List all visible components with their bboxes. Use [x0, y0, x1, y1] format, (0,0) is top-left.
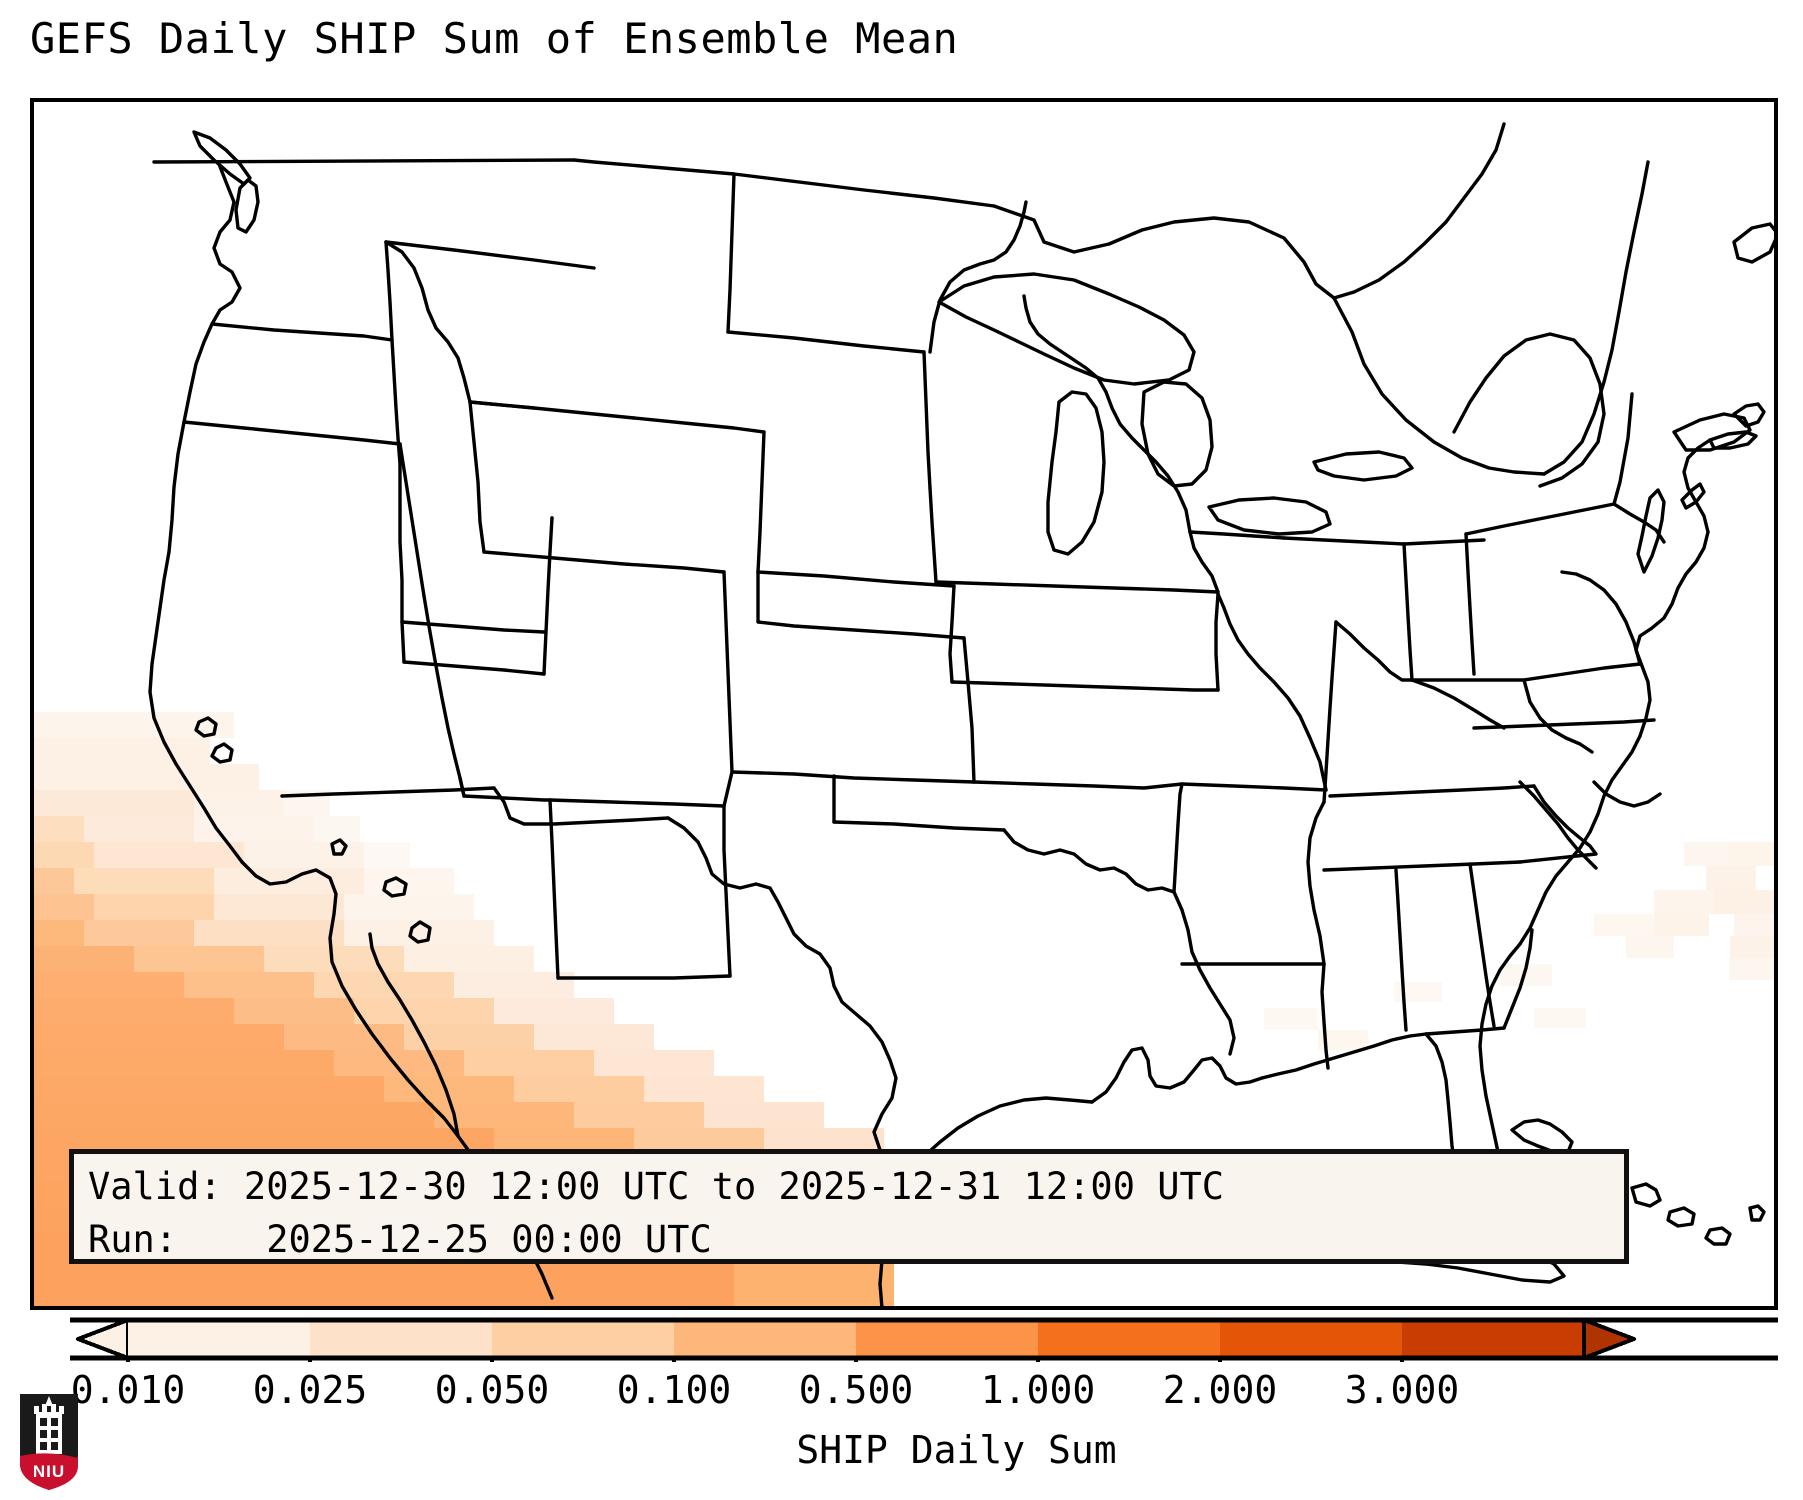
state-ok-ar — [1174, 784, 1182, 892]
baja-islands-2 — [384, 878, 406, 896]
colorbar-title-wrap: SHIP Daily Sum — [0, 1428, 1803, 1472]
puget-sound — [236, 180, 258, 232]
state-mt-wy-east — [634, 418, 764, 432]
state-la-ms — [1322, 964, 1328, 1068]
colorbar-band-2 — [492, 1320, 674, 1358]
border-usmex-nm — [494, 788, 668, 824]
state-ut-az — [464, 796, 550, 800]
state-ks-mo — [964, 638, 974, 782]
coast-gulf-louisiana — [1092, 1048, 1262, 1102]
state-az-nm — [550, 800, 558, 978]
state-ky-va-tn — [1412, 680, 1504, 728]
state-al-ga — [1470, 864, 1494, 1026]
state-nc-sc — [1594, 782, 1660, 806]
run-line: Run: 2025-12-25 00:00 UTC — [88, 1213, 1610, 1266]
niu-logo-svg: NIU — [18, 1392, 80, 1492]
state-wa-or — [212, 324, 392, 340]
state-ar-ms-tn — [1308, 802, 1324, 964]
long-island — [1710, 432, 1756, 448]
lake-huron — [1142, 382, 1212, 486]
bahamas-5 — [1706, 1228, 1730, 1244]
state-ne-ia-mo — [950, 586, 954, 682]
baja-islands-1 — [332, 840, 346, 854]
state-co-nm — [550, 800, 724, 806]
lake-erie — [1209, 498, 1330, 534]
lake-superior — [939, 274, 1194, 384]
state-sd-mn-ia — [930, 488, 936, 582]
state-in-ky — [1336, 622, 1412, 680]
colorbar-title: SHIP Daily Sum — [686, 1428, 1116, 1472]
state-ne-ks — [758, 572, 964, 638]
state-il-in — [1324, 622, 1336, 802]
colorbar-band-7 — [1402, 1320, 1584, 1358]
state-sd-ne — [758, 572, 954, 586]
island-dot-pacific-2 — [212, 744, 232, 762]
state-ok-tx-panhandle — [834, 822, 1004, 830]
state-mo-il — [1218, 594, 1326, 790]
state-ky-tn — [1330, 786, 1534, 796]
lake-superior-north — [994, 124, 1504, 298]
state-wy-south — [484, 552, 724, 572]
state-ny-vt-ma — [1614, 394, 1632, 504]
geography-layer — [34, 102, 1774, 1306]
st-lawrence-coast — [1544, 162, 1648, 474]
state-id-mt-w — [386, 242, 470, 402]
valid-run-info-box: Valid: 2025-12-30 12:00 UTC to 2025-12-3… — [69, 1149, 1629, 1264]
colorbar-svg[interactable] — [30, 1316, 1778, 1362]
valid-line: Valid: 2025-12-30 12:00 UTC to 2025-12-3… — [88, 1160, 1610, 1213]
state-ut-nv-north — [402, 622, 544, 632]
state-id-nv-ut — [400, 464, 404, 662]
colorbar-tick-5: 1.000 — [981, 1368, 1095, 1412]
bahamas-4 — [1668, 1208, 1694, 1226]
coast-socal-baja — [242, 862, 458, 1136]
lake-ontario — [1314, 452, 1412, 480]
coast-california — [150, 552, 242, 862]
colorbar-tick-6: 2.000 — [1163, 1368, 1277, 1412]
map-panel: Valid: 2025-12-30 12:00 UTC to 2025-12-3… — [30, 98, 1778, 1310]
cape-cod — [1734, 404, 1764, 426]
baja-islands-3 — [410, 922, 430, 942]
state-ia-mo — [952, 682, 1218, 690]
newfoundland-sliver — [1734, 224, 1778, 262]
state-ia-il — [1216, 594, 1218, 690]
state-oh-pa — [1466, 534, 1474, 674]
colorbar-tick-3: 0.100 — [617, 1368, 731, 1412]
border-usmex-rio-grande — [668, 818, 904, 1174]
state-il-wi-in-n — [1284, 538, 1404, 544]
niu-logo: NIU — [18, 1392, 80, 1492]
state-nv-ut — [404, 662, 544, 674]
state-wa-id-east — [386, 242, 392, 340]
bahamas-3 — [1632, 1184, 1660, 1206]
state-pa-md — [1524, 664, 1640, 680]
state-mi-oh-in — [1404, 540, 1484, 544]
coast-gulf-panhandle — [1262, 1034, 1426, 1078]
colorbar-extend-max — [1584, 1320, 1634, 1358]
state-nm-mex — [558, 976, 730, 978]
state-pa-ny — [1466, 504, 1614, 534]
state-nd-mn — [924, 352, 930, 488]
border-canada-east — [1334, 298, 1544, 474]
state-mt-canada — [386, 242, 594, 268]
colorbar-extend-min — [78, 1320, 128, 1358]
state-ga-fl — [1426, 1028, 1504, 1034]
state-ia-wi — [1190, 532, 1218, 592]
state-mt-wy — [470, 402, 534, 408]
state-ok-tx-red-river — [1004, 830, 1174, 892]
state-nv-az — [460, 778, 464, 796]
colorbar-tick-1: 0.025 — [253, 1368, 367, 1412]
state-ca-nv-diag — [400, 444, 464, 796]
state-in-oh — [1404, 544, 1412, 680]
map-geography-svg — [34, 102, 1778, 1310]
border-canada-plains — [574, 160, 994, 206]
state-or-ca-nv — [184, 422, 400, 444]
colorbar-tick-labels: 0.010 0.025 0.050 0.100 0.500 1.000 2.00… — [0, 1368, 1803, 1416]
colorbar-tick-4: 0.500 — [799, 1368, 913, 1412]
state-md-va-wv — [1562, 572, 1640, 664]
state-pa-nj-ny-e — [1614, 504, 1664, 542]
state-ut-co — [544, 518, 552, 674]
state-wy-sd-ne — [758, 432, 764, 572]
state-wy-co — [470, 402, 484, 552]
page-title: GEFS Daily SHIP Sum of Ensemble Mean — [30, 14, 958, 63]
state-ms-al — [1396, 870, 1406, 1030]
colorbar-tick-7: 3.000 — [1345, 1368, 1459, 1412]
niu-logo-text: NIU — [33, 1462, 65, 1481]
gulf-of-california-east — [370, 934, 458, 1136]
colorbar-band-1 — [310, 1320, 492, 1358]
state-ok-mo-north — [974, 782, 1182, 788]
coast-pacific-nw — [169, 164, 240, 552]
state-tx-la — [1174, 892, 1234, 1054]
island-dot-pacific-1 — [196, 718, 216, 736]
state-nm-tx — [724, 806, 730, 976]
colorbar-tick-2: 0.050 — [435, 1368, 549, 1412]
bahamas-dot — [1750, 1206, 1764, 1220]
state-tn-ms-al-ga — [1324, 862, 1520, 870]
colorbar-band-5 — [1038, 1320, 1220, 1358]
state-mo-ar — [1182, 784, 1326, 790]
state-ia-mn — [936, 582, 1218, 592]
colorbar-band-0 — [128, 1320, 310, 1358]
colorbar-band-6 — [1220, 1320, 1402, 1358]
lake-michigan — [1048, 392, 1104, 554]
colorbar-band-3 — [674, 1320, 856, 1358]
colorbar-band-4 — [856, 1320, 1038, 1358]
bahamas-1 — [1512, 1120, 1572, 1152]
colorbar-tick-0: 0.010 — [71, 1368, 185, 1412]
state-mt-nd-sd — [728, 174, 734, 332]
state-nd-sd — [728, 332, 924, 352]
state-wv-va — [1524, 680, 1592, 752]
colorbar-segments — [70, 1320, 1778, 1358]
chesapeake-bay — [1638, 490, 1664, 572]
state-ks-ok — [732, 772, 974, 782]
colorbar[interactable] — [30, 1316, 1778, 1362]
